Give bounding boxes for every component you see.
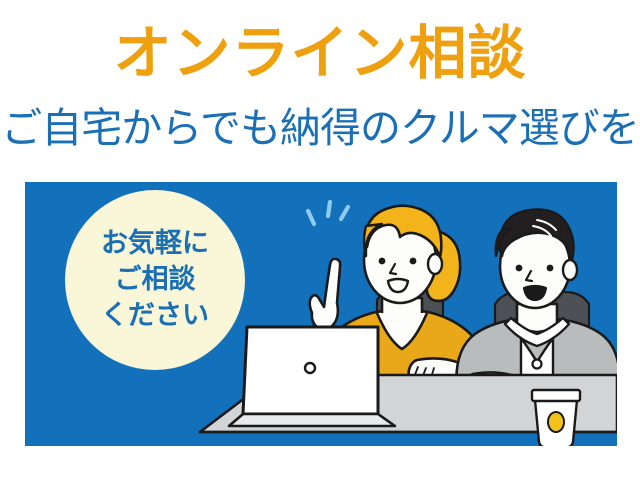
page-subtitle: ご自宅からでも納得のクルマ選びを: [0, 105, 640, 151]
status-badge: お気軽に ご相談 ください: [65, 190, 245, 370]
coffee-cup-icon: [532, 390, 580, 446]
badge-line-1: お気軽に: [101, 226, 209, 262]
sparkle-lines-icon: [308, 202, 348, 224]
banner-image: オンライン相談 ご自宅からでも納得のクルマ選びを: [0, 0, 640, 480]
page-title: オンライン相談: [0, 22, 640, 84]
man-figure-icon: [456, 209, 617, 396]
illustration-panel: お気軽に ご相談 ください: [25, 182, 617, 446]
badge-line-2: ご相談: [115, 262, 196, 298]
laptop-icon: [229, 327, 395, 426]
badge-line-3: ください: [101, 298, 209, 334]
